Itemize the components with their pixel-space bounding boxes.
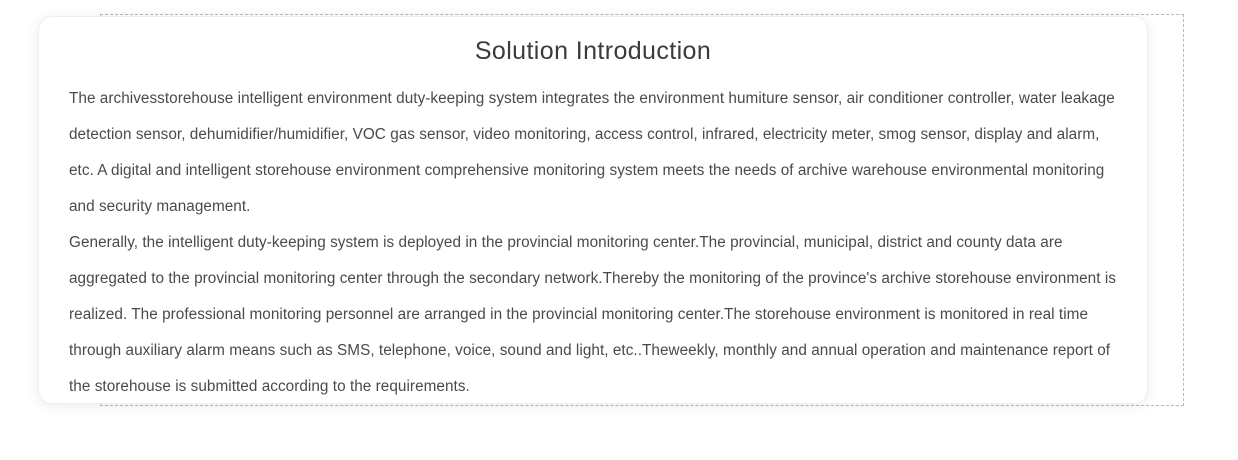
page-root: Solution Introduction The archivesstoreh…: [0, 0, 1238, 460]
solution-introduction-card: Solution Introduction The archivesstoreh…: [38, 16, 1148, 404]
paragraph-system-overview: The archivesstorehouse intelligent envir…: [69, 81, 1117, 225]
page-title: Solution Introduction: [39, 33, 1147, 69]
card-body: The archivesstorehouse intelligent envir…: [39, 69, 1147, 404]
paragraph-deployment-details: Generally, the intelligent duty-keeping …: [69, 225, 1117, 404]
